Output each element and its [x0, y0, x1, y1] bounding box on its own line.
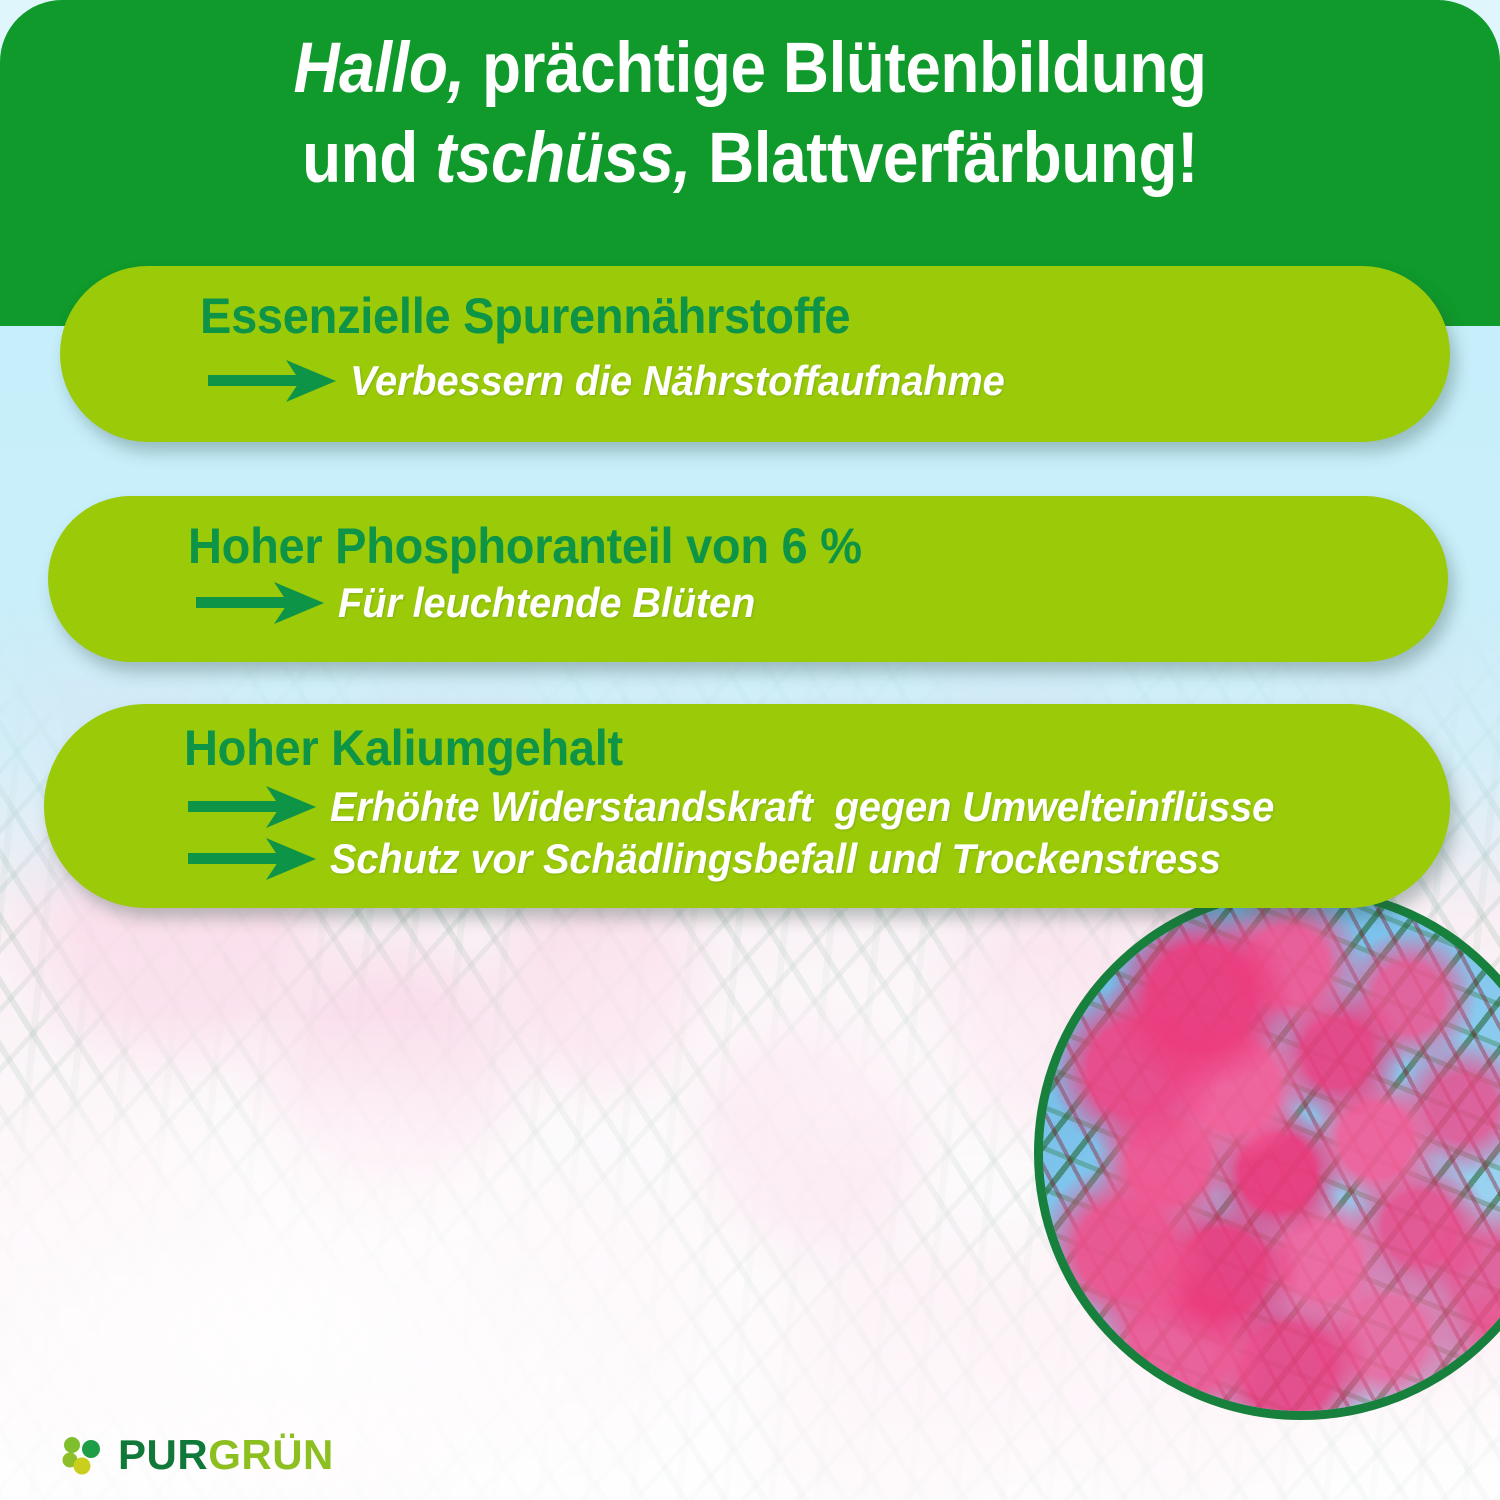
- headline-emphasis-tschuess: tschüss,: [435, 119, 691, 198]
- feature-pill-2-bullet-1-text: Für leuchtende Blüten: [338, 580, 755, 626]
- feature-pill-3-title: Hoher Kaliumgehalt: [184, 720, 623, 776]
- feature-pill-2: Hoher Phosphoranteil von 6 % Für leuchte…: [48, 496, 1448, 662]
- arrow-right-icon: [196, 580, 324, 626]
- feature-pill-1-title: Essenzielle Spurennährstoffe: [200, 288, 850, 344]
- headline-line-1-rest: prächtige Blütenbildung: [465, 29, 1207, 108]
- magnifier-circle-icon: [1034, 886, 1500, 1420]
- headline-line-2-rest: Blattverfärbung!: [691, 119, 1198, 198]
- magnifier-callout: [1034, 886, 1500, 1426]
- feature-pill-1-bullet-1-text: Verbessern die Nährstoffaufnahme: [350, 358, 1005, 404]
- feature-pill-1-bullet-1: Verbessern die Nährstoffaufnahme: [208, 358, 1039, 404]
- brand-logo-pur: PUR: [118, 1431, 208, 1478]
- feature-pill-3-bullet-2-text: Schutz vor Schädlingsbefall und Trockens…: [330, 836, 1221, 882]
- arrow-right-icon: [188, 784, 316, 830]
- feature-pill-3-bullet-1-text: Erhöhte Widerstandskraft gegen Umweltein…: [330, 784, 1274, 830]
- feature-pill-3-bullet-2: Schutz vor Schädlingsbefall und Trockens…: [188, 836, 1268, 882]
- brand-logo[interactable]: PURGRÜN: [58, 1432, 334, 1478]
- feature-pill-3-bullet-1: Erhöhte Widerstandskraft gegen Umweltein…: [188, 784, 1324, 830]
- feature-pill-1: Essenzielle Spurennährstoffe Verbessern …: [60, 266, 1450, 442]
- oleander-closeup-photo: [1037, 889, 1500, 1420]
- header-text-block: Hallo, prächtige Blütenbildung und tschü…: [0, 24, 1500, 204]
- feature-pill-3: Hoher Kaliumgehalt Erhöhte Widerstandskr…: [44, 704, 1450, 908]
- feature-pill-2-title: Hoher Phosphoranteil von 6 %: [188, 518, 862, 574]
- four-dot-clover-icon: [58, 1432, 104, 1478]
- headline-emphasis-hallo: Hallo,: [293, 29, 464, 108]
- headline-line-2-lead: und: [302, 119, 435, 198]
- arrow-right-icon: [188, 836, 316, 882]
- headline-line-2: und tschüss, Blattverfärbung!: [75, 114, 1425, 204]
- brand-logo-text: PURGRÜN: [118, 1432, 334, 1478]
- arrow-right-icon: [208, 358, 336, 404]
- poster-canvas: Hallo, prächtige Blütenbildung und tschü…: [0, 0, 1500, 1500]
- headline-line-1: Hallo, prächtige Blütenbildung: [75, 24, 1425, 114]
- feature-pill-2-bullet-1: Für leuchtende Blüten: [196, 580, 777, 626]
- brand-logo-gruen: GRÜN: [208, 1431, 334, 1478]
